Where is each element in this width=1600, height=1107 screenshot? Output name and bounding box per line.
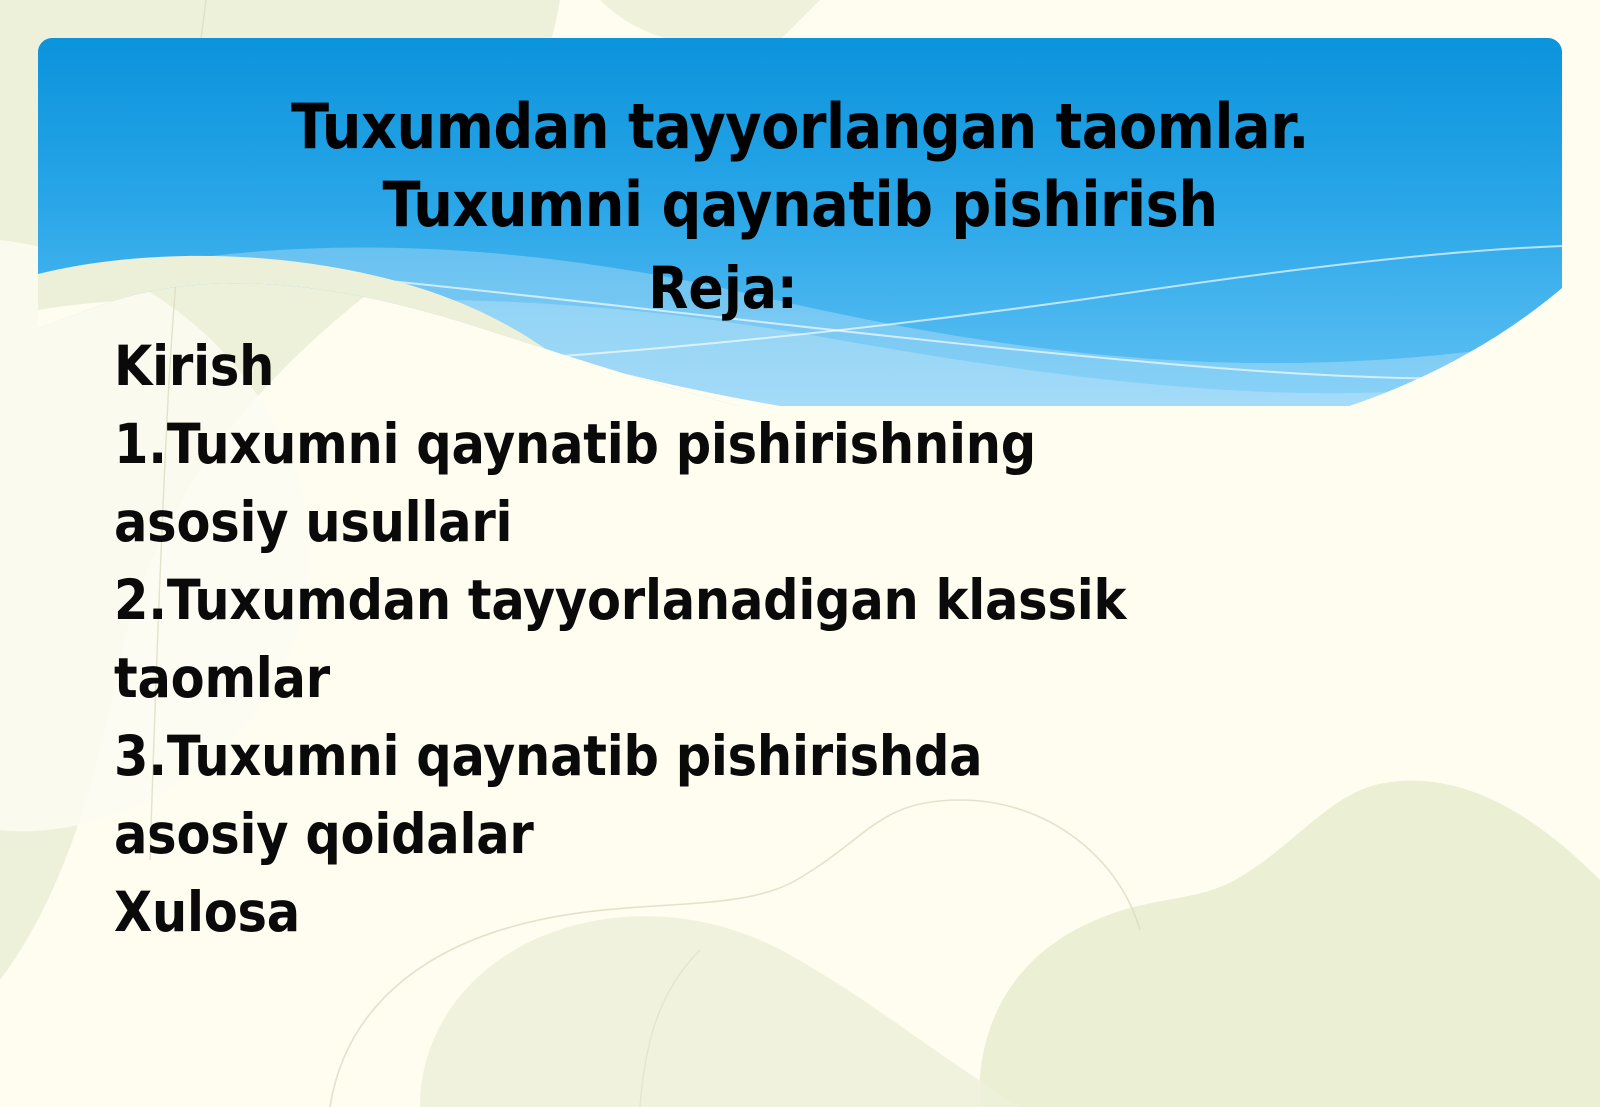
section-heading: Reja: (38, 253, 1408, 323)
outline-list: Kirish 1.Tuxumni qaynatib pishirishning … (114, 327, 1374, 951)
outline-line: Kirish (114, 327, 1374, 405)
slide-title: Tuxumdan tayyorlangan taomlar. Tuxumni q… (38, 88, 1562, 244)
outline-line: asosiy qoidalar (114, 795, 1374, 873)
slide-title-line-1: Tuxumdan tayyorlangan taomlar. (38, 88, 1562, 166)
outline-line: 2.Tuxumdan tayyorlanadigan klassik (114, 561, 1374, 639)
outline-line: 3.Tuxumni qaynatib pishirishda (114, 717, 1374, 795)
outline-line: asosiy usullari (114, 483, 1374, 561)
outline-line: 1.Tuxumni qaynatib pishirishning (114, 405, 1374, 483)
hairline-curve-bottom-left (640, 950, 700, 1107)
presentation-slide: Tuxumdan tayyorlangan taomlar. Tuxumni q… (0, 0, 1600, 1107)
outline-line: taomlar (114, 639, 1374, 717)
outline-line: Xulosa (114, 873, 1374, 951)
slide-title-line-2: Tuxumni qaynatib pishirish (38, 166, 1562, 244)
